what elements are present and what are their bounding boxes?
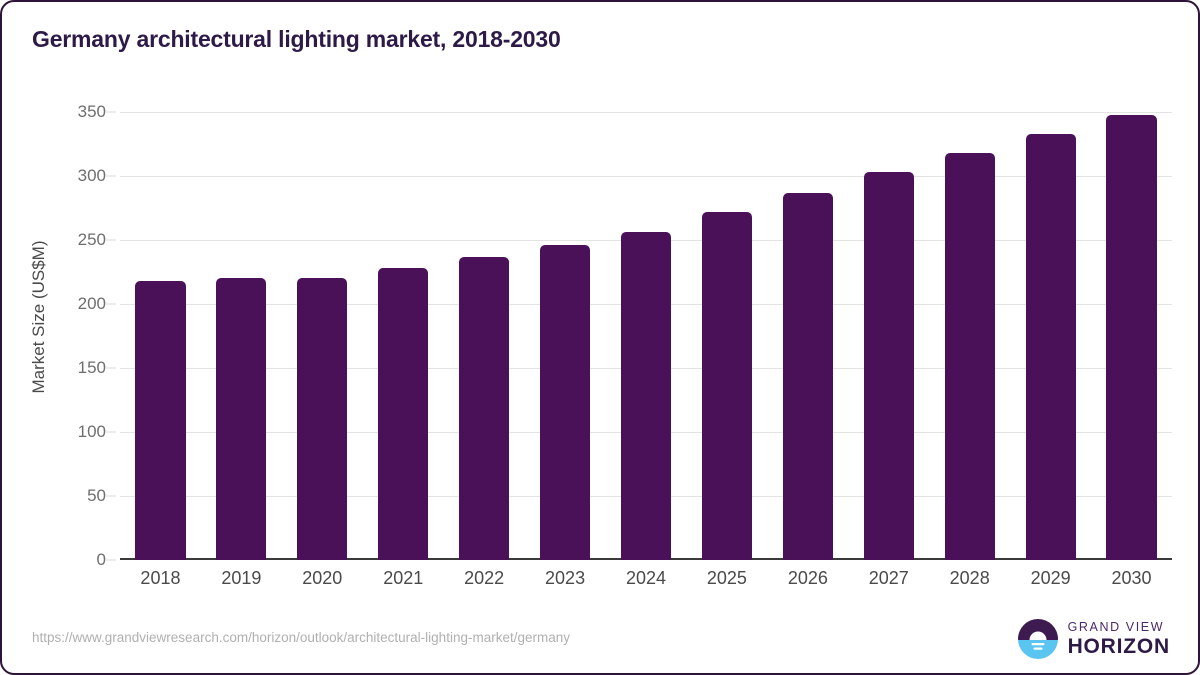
bar[interactable] xyxy=(1026,134,1076,560)
x-tick-label: 2018 xyxy=(140,568,180,589)
x-tick-label: 2023 xyxy=(545,568,585,589)
x-tick-label: 2021 xyxy=(383,568,423,589)
bar[interactable] xyxy=(135,281,185,560)
y-tick-mark xyxy=(106,432,116,433)
x-tick-label: 2027 xyxy=(869,568,909,589)
logo-wordmark: GRAND VIEW HORIZON xyxy=(1068,621,1170,658)
x-tick-label: 2030 xyxy=(1112,568,1152,589)
y-tick-mark xyxy=(106,368,116,369)
y-tick-mark xyxy=(106,560,116,561)
bar[interactable] xyxy=(459,257,509,560)
logo-top-text: GRAND VIEW xyxy=(1068,621,1170,634)
x-tick-label: 2024 xyxy=(626,568,666,589)
bar[interactable] xyxy=(540,245,590,560)
x-tick-label: 2029 xyxy=(1031,568,1071,589)
bar[interactable] xyxy=(216,278,266,560)
x-tick-label: 2019 xyxy=(221,568,261,589)
y-tick-mark xyxy=(106,240,116,241)
x-tick-label: 2025 xyxy=(707,568,747,589)
y-tick-mark xyxy=(106,112,116,113)
bar[interactable] xyxy=(378,268,428,560)
x-tick-label: 2026 xyxy=(788,568,828,589)
y-tick-mark xyxy=(106,176,116,177)
logo-bottom-text: HORIZON xyxy=(1068,636,1170,657)
chart-card: Germany architectural lighting market, 2… xyxy=(0,0,1200,675)
y-tick-mark xyxy=(106,304,116,305)
bar[interactable] xyxy=(621,232,671,560)
y-axis-label: Market Size (US$M) xyxy=(29,37,49,597)
x-tick-label: 2020 xyxy=(302,568,342,589)
source-url[interactable]: https://www.grandviewresearch.com/horizo… xyxy=(32,630,570,645)
brand-logo: GRAND VIEW HORIZON xyxy=(1017,618,1170,660)
bar[interactable] xyxy=(864,172,914,560)
y-tick-mark xyxy=(106,496,116,497)
bar[interactable] xyxy=(1106,115,1156,560)
x-tick-label: 2028 xyxy=(950,568,990,589)
x-tick-label: 2022 xyxy=(464,568,504,589)
bar[interactable] xyxy=(702,212,752,560)
bar[interactable] xyxy=(297,278,347,560)
page-title: Germany architectural lighting market, 2… xyxy=(32,26,561,53)
bar-series xyxy=(120,112,1172,560)
bar[interactable] xyxy=(945,153,995,560)
horizon-sun-circle-icon xyxy=(1017,618,1059,660)
bar[interactable] xyxy=(783,193,833,560)
